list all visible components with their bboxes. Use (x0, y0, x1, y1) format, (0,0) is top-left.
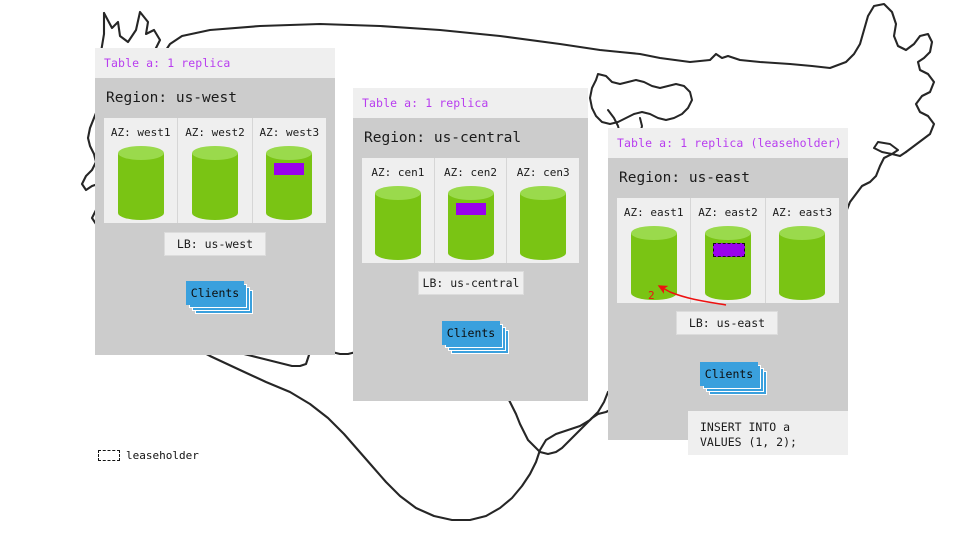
cylinder-body (779, 233, 825, 293)
cylinder-body (631, 233, 677, 293)
replica-marker (274, 163, 304, 175)
database-node-cylinder (375, 186, 421, 260)
availability-zone-row: AZ: west1AZ: west2AZ: west3 (104, 118, 326, 223)
cylinder-body (192, 153, 238, 213)
az-label: AZ: east2 (691, 206, 764, 219)
clients-button[interactable]: Clients (186, 281, 244, 305)
availability-zone-east3: AZ: east3 (766, 198, 839, 303)
cylinder-top (705, 226, 751, 240)
clients-button[interactable]: Clients (442, 321, 500, 345)
clients-stack-us-east[interactable]: Clients (700, 362, 768, 396)
availability-zone-east2: AZ: east2 (691, 198, 765, 303)
availability-zone-west3: AZ: west3 (253, 118, 326, 223)
replica-marker (456, 203, 486, 215)
region-title: Region: us-west (95, 78, 335, 106)
database-node-cylinder (705, 226, 751, 300)
clients-stack-us-central[interactable]: Clients (442, 321, 510, 355)
availability-zone-east1: AZ: east1 (617, 198, 691, 303)
az-label: AZ: east3 (766, 206, 839, 219)
az-label: AZ: west3 (253, 126, 326, 139)
region-replica-header: Table a: 1 replica (353, 88, 588, 118)
az-label: AZ: west2 (178, 126, 251, 139)
az-label: AZ: cen3 (507, 166, 579, 179)
availability-zone-west1: AZ: west1 (104, 118, 178, 223)
cylinder-top (266, 146, 312, 160)
cylinder-body (448, 193, 494, 253)
load-balancer-us-west: LB: us-west (164, 232, 266, 256)
az-label: AZ: cen1 (362, 166, 434, 179)
database-node-cylinder (266, 146, 312, 220)
region-title: Region: us-east (608, 158, 848, 186)
cylinder-top (779, 226, 825, 240)
region-title: Region: us-central (353, 118, 588, 146)
cylinder-top (631, 226, 677, 240)
availability-zone-west2: AZ: west2 (178, 118, 252, 223)
sql-statement-box: INSERT INTO a VALUES (1, 2); (688, 411, 848, 455)
legend-label: leaseholder (126, 449, 199, 462)
cylinder-top (118, 146, 164, 160)
cylinder-top (448, 186, 494, 200)
region-replica-header: Table a: 1 replica (95, 48, 335, 78)
database-node-cylinder (192, 146, 238, 220)
cylinder-body (118, 153, 164, 213)
database-node-cylinder (118, 146, 164, 220)
cylinder-top (520, 186, 566, 200)
cylinder-body (520, 193, 566, 253)
cylinder-body (375, 193, 421, 253)
region-replica-header: Table a: 1 replica (leaseholder) (608, 128, 848, 158)
database-node-cylinder (520, 186, 566, 260)
cylinder-top (375, 186, 421, 200)
az-label: AZ: west1 (104, 126, 177, 139)
dashed-rectangle-icon (98, 450, 120, 461)
arrow-step-label: 2 (648, 289, 655, 302)
cylinder-top (192, 146, 238, 160)
load-balancer-us-east: LB: us-east (676, 311, 778, 335)
legend: leaseholder (98, 449, 199, 462)
az-label: AZ: east1 (617, 206, 690, 219)
diagram-canvas: Table a: 1 replicaRegion: us-westAZ: wes… (0, 0, 960, 540)
replica-leaseholder-marker (713, 243, 745, 257)
availability-zone-cen3: AZ: cen3 (507, 158, 579, 263)
availability-zone-cen1: AZ: cen1 (362, 158, 435, 263)
database-node-cylinder (448, 186, 494, 260)
database-node-cylinder (779, 226, 825, 300)
availability-zone-row: AZ: east1AZ: east2AZ: east3 (617, 198, 839, 303)
region-body: Region: us-centralAZ: cen1AZ: cen2AZ: ce… (353, 118, 588, 401)
cylinder-body (266, 153, 312, 213)
load-balancer-us-central: LB: us-central (418, 271, 524, 295)
region-body: Region: us-eastAZ: east1AZ: east2AZ: eas… (608, 158, 848, 440)
availability-zone-cen2: AZ: cen2 (435, 158, 508, 263)
clients-button[interactable]: Clients (700, 362, 758, 386)
availability-zone-row: AZ: cen1AZ: cen2AZ: cen3 (362, 158, 579, 263)
cylinder-body (705, 233, 751, 293)
clients-stack-us-west[interactable]: Clients (186, 281, 254, 315)
az-label: AZ: cen2 (435, 166, 507, 179)
